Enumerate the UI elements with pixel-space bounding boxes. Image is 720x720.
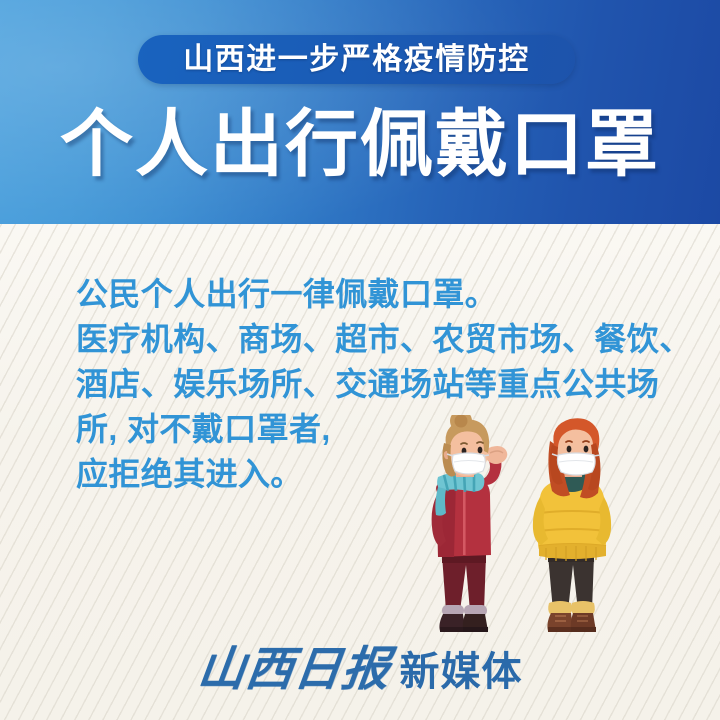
footer-sub-brand: 新媒体 <box>400 652 523 694</box>
masked-people-illustration <box>420 415 640 660</box>
header-banner: 山西进一步严格疫情防控 个人出行佩戴口罩 <box>0 0 720 224</box>
poster-root: 山西进一步严格疫情防控 个人出行佩戴口罩 公民个人出行一律佩戴口罩。 医疗机构、… <box>0 0 720 720</box>
header-badge-label: 山西进一步严格疫情防控 <box>183 45 530 75</box>
figure-left-illustration <box>432 415 508 632</box>
page-title: 个人出行佩戴口罩 <box>0 108 720 181</box>
footer-brand-name: 山西日报 <box>195 647 393 694</box>
header-badge: 山西进一步严格疫情防控 <box>138 35 575 84</box>
body-line-2: 医疗机构、商场、超市、农贸市场、餐饮、 <box>76 317 676 362</box>
body-line-3: 酒店、娱乐场所、交通场站等重点公共场 <box>76 362 676 407</box>
figure-right-illustration <box>533 418 611 632</box>
body-line-1: 公民个人出行一律佩戴口罩。 <box>76 272 676 317</box>
footer-logo: 山西日报 新媒体 <box>0 647 720 694</box>
